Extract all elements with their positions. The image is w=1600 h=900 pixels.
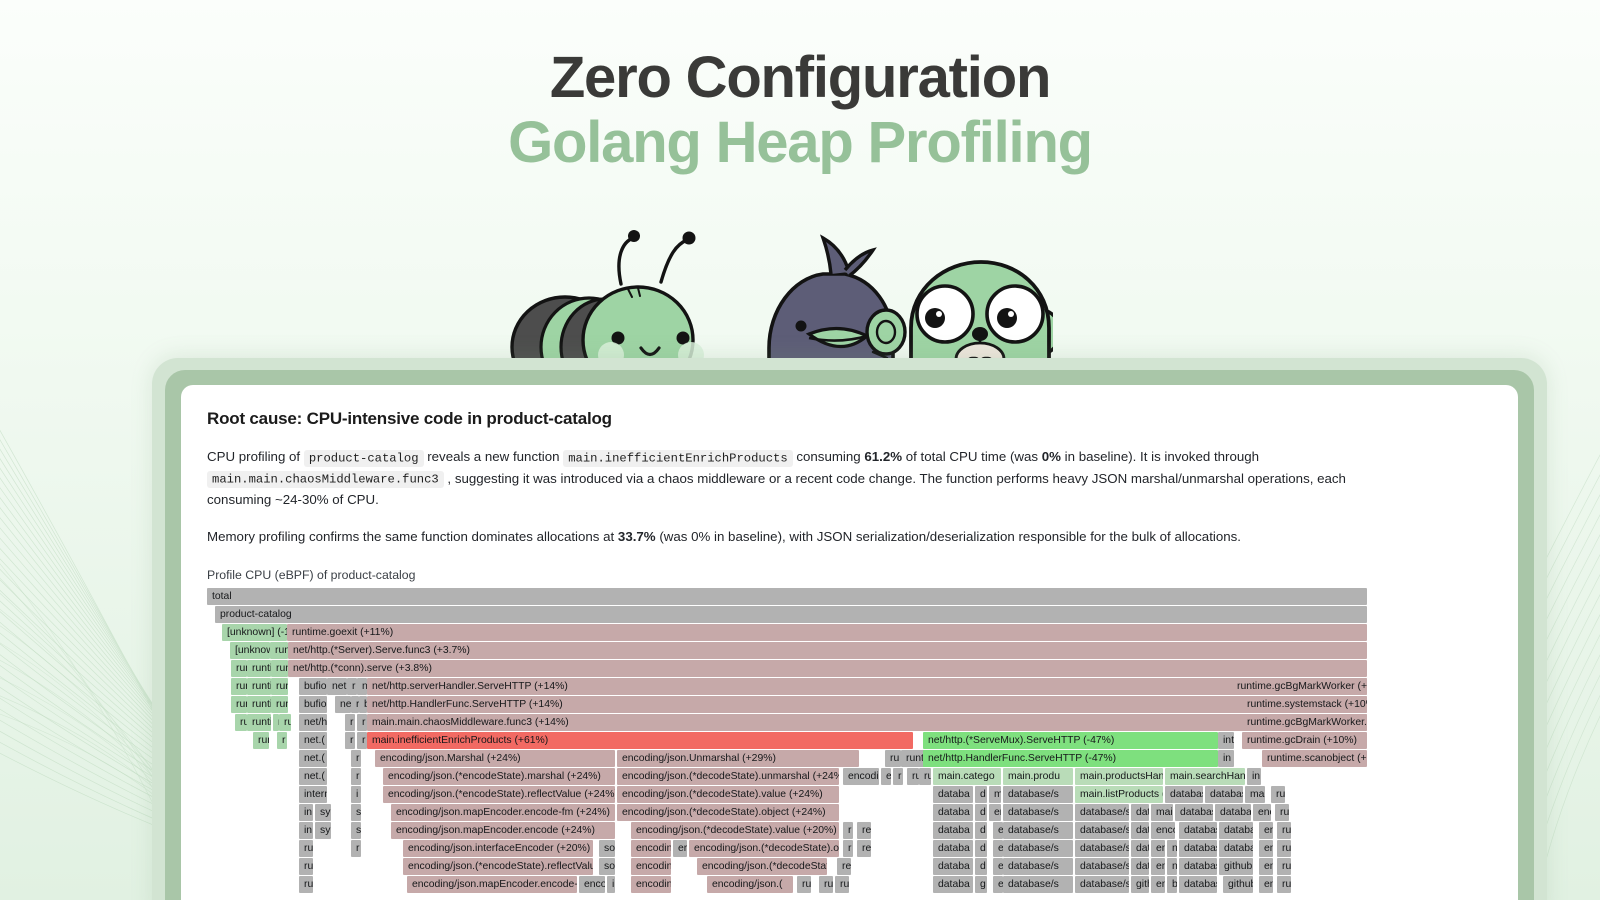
flamegraph-block[interactable]: re: [837, 858, 851, 875]
flamegraph-block[interactable]: r: [351, 768, 361, 785]
code-inefficient-enrich-products: main.inefficientEnrichProducts: [563, 450, 792, 467]
flamegraph-block[interactable]: en: [1151, 840, 1165, 857]
flamegraph-block[interactable]: runtime.ma: [231, 660, 247, 677]
flamegraph-block[interactable]: runti: [231, 678, 247, 695]
flamegraph-block[interactable]: database/s: [1003, 804, 1073, 821]
flamegraph-block[interactable]: ru: [1277, 840, 1291, 857]
flamegraph-block[interactable]: ru: [279, 714, 291, 731]
flamegraph-block[interactable]: r: [351, 840, 361, 857]
flamegraph-block[interactable]: net.(: [299, 750, 327, 767]
flamegraph-block[interactable]: in: [299, 804, 313, 821]
flamegraph-block[interactable]: n: [357, 678, 367, 695]
flamegraph-block[interactable]: r: [351, 750, 361, 767]
flamegraph-block[interactable]: bufio: [299, 678, 327, 695]
flamegraph-block[interactable]: ru: [299, 876, 313, 893]
flamegraph-block[interactable]: en: [1151, 876, 1165, 893]
flamegraph-row: rurencoding/json.interfaceEncoder (+20%)…: [207, 840, 1367, 858]
p2-text-2: (was 0% in baseline), with JSON serializ…: [656, 529, 1241, 544]
flamegraph-block[interactable]: ne: [335, 696, 351, 713]
flamegraph-block[interactable]: in: [299, 822, 313, 839]
flamegraph-block[interactable]: r: [345, 714, 355, 731]
flamegraph-block[interactable]: d: [975, 822, 987, 839]
flamegraph-block[interactable]: runtime.gc: [247, 696, 271, 713]
flamegraph-row: net.(rencoding/json.(*encodeState).marsh…: [207, 768, 1367, 786]
flamegraph-block[interactable]: dat: [1131, 822, 1149, 839]
flamegraph-block[interactable]: database/s: [1003, 858, 1073, 875]
flamegraph-block[interactable]: databa: [1219, 840, 1253, 857]
flamegraph-block[interactable]: [unknown] (-10%): [230, 642, 270, 659]
flamegraph-block[interactable]: databa: [933, 822, 973, 839]
code-chaos-middleware: main.main.chaosMiddleware.func3: [207, 471, 444, 488]
flamegraph-block[interactable]: r: [345, 732, 355, 749]
flamegraph-block[interactable]: so: [599, 840, 615, 857]
flamegraph-block[interactable]: net/http.(*conn).serve (+3.8%): [288, 660, 1367, 677]
flamegraph-block[interactable]: runtime.g: [247, 714, 271, 731]
flamegraph-row: ruencoding/json.mapEncoder.encode-encoie…: [207, 876, 1367, 894]
flamegraph-block[interactable]: int: [1218, 732, 1234, 749]
flamegraph-row: [unknown] (-10%)runtime.main (-6%)net/ht…: [207, 642, 1367, 660]
flamegraph-block[interactable]: github: [1223, 876, 1253, 893]
flamegraph-block[interactable]: so: [599, 858, 615, 875]
flamegraph-block[interactable]: sy: [315, 822, 331, 839]
flamegraph-block[interactable]: g: [975, 876, 987, 893]
flamegraph-block[interactable]: runtim: [271, 678, 288, 695]
flamegraph-block[interactable]: r: [843, 840, 853, 857]
flamegraph-row: net.(rencoding/json.Marshal (+24%)encodi…: [207, 750, 1367, 768]
flamegraph-block[interactable]: product-catalog: [215, 606, 1367, 623]
flamegraph-block[interactable]: net.(: [299, 768, 327, 785]
flamegraph-block[interactable]: i: [607, 876, 615, 893]
p2-text-1: Memory profiling confirms the same funct…: [207, 529, 618, 544]
flamegraph-block[interactable]: ru: [1277, 876, 1291, 893]
flamegraph-block[interactable]: encoding/json.(*encodeState).reflectValu…: [403, 858, 593, 875]
flamegraph-row: [unknown] (-10%)runtime.goexit (+11%): [207, 624, 1367, 642]
flamegraph-block[interactable]: m: [989, 786, 1001, 803]
flamegraph-block[interactable]: s: [351, 804, 361, 821]
p1-text-3: consuming: [793, 449, 865, 464]
flamegraph-block[interactable]: e: [993, 840, 1003, 857]
flamegraph-block[interactable]: net/h: [299, 714, 327, 731]
root-cause-paragraph-1: CPU profiling of product-catalog reveals…: [207, 447, 1382, 510]
flamegraph-block[interactable]: database/s: [1003, 786, 1073, 803]
flamegraph-block[interactable]: databa: [933, 804, 973, 821]
flamegraph-block[interactable]: database/s: [1003, 840, 1073, 857]
flamegraph-block[interactable]: encoding/json.(*encodeState).reflectValu…: [383, 786, 615, 803]
flamegraph-block[interactable]: er: [673, 840, 687, 857]
flamegraph-block[interactable]: databas: [1205, 786, 1243, 803]
flamegraph-block[interactable]: ru: [835, 876, 849, 893]
flamegraph-block[interactable]: r: [357, 714, 367, 731]
flamegraph-block[interactable]: encoding/json.(: [707, 876, 793, 893]
flamegraph-block[interactable]: encoding/json.(*decodeState).value (+24%…: [617, 786, 839, 803]
baseline-percent-value: 0%: [1042, 449, 1061, 464]
flamegraph-block[interactable]: runtime.scanobject (+9%): [1262, 750, 1367, 767]
flamegraph-block[interactable]: ru: [299, 840, 313, 857]
flamegraph-block[interactable]: runtime.gcDrain (+10%): [1242, 732, 1367, 749]
flamegraph-caption: Profile CPU (eBPF) of product-catalog: [207, 568, 1494, 582]
flamegraph-block[interactable]: b: [1167, 876, 1177, 893]
flamegraph-row: product-catalog: [207, 606, 1367, 624]
flamegraph-block[interactable]: r: [277, 732, 287, 749]
flamegraph-row: ruencoding/json.(*encodeState).reflectVa…: [207, 858, 1367, 876]
laptop-bezel: Root cause: CPU-intensive code in produc…: [165, 370, 1534, 900]
flamegraph-block[interactable]: encoding/json.mapEncoder.encode (+24%): [391, 822, 615, 839]
flamegraph-block[interactable]: runtime.main (-6%): [270, 642, 288, 659]
flamegraph-block[interactable]: runtim: [271, 696, 288, 713]
flamegraph-block[interactable]: databas: [1179, 858, 1217, 875]
flamegraph-block[interactable]: e: [993, 858, 1003, 875]
flamegraph-block[interactable]: databa: [933, 786, 973, 803]
flamegraph-block[interactable]: main.main.chaosMiddleware.func3 (+14%): [367, 714, 1367, 731]
flamegraph-block[interactable]: dat: [1131, 840, 1149, 857]
flamegraph-block[interactable]: d: [975, 858, 987, 875]
flamegraph-block[interactable]: encoding/json.(*decodeState).unmarshal (…: [617, 768, 839, 785]
flamegraph-block[interactable]: n: [1167, 858, 1177, 875]
flamegraph-block[interactable]: ru: [299, 858, 313, 875]
flamegraph-block[interactable]: re: [857, 840, 871, 857]
flamegraph-block[interactable]: databas: [1179, 840, 1217, 857]
flamegraph-block[interactable]: encoding/json.(*decodeState).value (+20%…: [631, 822, 839, 839]
flamegraph-block[interactable]: r: [843, 822, 853, 839]
page-title-line-1: Zero Configuration: [0, 46, 1600, 111]
flamegraph-row: runtiruntime.gcruntimbufionetrnnet/http.…: [207, 678, 1367, 696]
flamegraph-row: total: [207, 588, 1367, 606]
flamegraph-block[interactable]: databa: [933, 858, 973, 875]
flamegraph-block[interactable]: ru: [1271, 786, 1285, 803]
flamegraph-block[interactable]: ru: [819, 876, 833, 893]
flamegraph-block[interactable]: r: [351, 696, 359, 713]
flamegraph-block[interactable]: en: [1259, 858, 1273, 875]
flamegraph-block[interactable]: databa: [1219, 822, 1253, 839]
flamegraph-block[interactable]: main.inefficientEnrichProducts (+61%): [367, 732, 913, 749]
flamegraph-block[interactable]: database/s: [1003, 822, 1073, 839]
flamegraph-block[interactable]: runtime.gc: [247, 678, 271, 695]
flamegraph-block[interactable]: encoding/json.interfaceEncoder (+20%): [403, 840, 593, 857]
flamegraph-block[interactable]: database/s: [1075, 804, 1129, 821]
flamegraph-row: insysencoding/json.mapEncoder.encode-fm …: [207, 804, 1367, 822]
flamegraph[interactable]: totalproduct-catalog[unknown] (-10%)runt…: [207, 588, 1367, 894]
flamegraph-block[interactable]: re: [857, 822, 871, 839]
laptop-screen: Root cause: CPU-intensive code in produc…: [181, 385, 1518, 900]
flamegraph-block[interactable]: encodin: [843, 768, 879, 785]
flamegraph-block[interactable]: dat: [1131, 858, 1149, 875]
hero-heading-group: Zero Configuration Golang Heap Profiling: [0, 46, 1600, 176]
flamegraph-block[interactable]: s: [351, 822, 361, 839]
flamegraph-block[interactable]: total: [207, 588, 1367, 605]
flamegraph-block[interactable]: encoding/json.Marshal (+24%): [375, 750, 615, 767]
flamegraph-block[interactable]: runti: [231, 696, 247, 713]
flamegraph-block[interactable]: net/http.HandlerFunc.ServeHTTP (-47%): [923, 750, 1218, 767]
flamegraph-block[interactable]: mai: [1245, 786, 1265, 803]
flamegraph-row: runtime.maruntime.gcruntime.mnet/http.(*…: [207, 660, 1367, 678]
flamegraph-block[interactable]: runtime.systemstack (+10%): [1242, 696, 1367, 713]
flamegraph-block[interactable]: d: [975, 804, 987, 821]
page-title-line-2: Golang Heap Profiling: [0, 111, 1600, 176]
flamegraph-block[interactable]: ru: [797, 876, 811, 893]
flamegraph-block[interactable]: [unknown] (-10%): [222, 624, 287, 641]
flamegraph-block[interactable]: databas: [1175, 804, 1213, 821]
flamegraph-block[interactable]: enco: [1151, 822, 1175, 839]
flamegraph-block[interactable]: main.searchHandler (: [1165, 768, 1245, 785]
flamegraph-block[interactable]: in: [1247, 768, 1261, 785]
flamegraph-block[interactable]: databa: [1215, 804, 1251, 821]
flamegraph-block[interactable]: encoding/json.mapEncoder.encode-: [407, 876, 577, 893]
flamegraph-block[interactable]: r: [357, 732, 367, 749]
flamegraph-block[interactable]: main.listProducts (-15: [1075, 786, 1163, 803]
page-title: Root cause: CPU-intensive code in produc…: [207, 409, 1494, 429]
flamegraph-block[interactable]: ru: [1277, 858, 1291, 875]
flamegraph-block[interactable]: en: [1259, 822, 1273, 839]
flamegraph-block[interactable]: databas: [1165, 786, 1203, 803]
flamegraph-block[interactable]: runtime.gcBgMarkWorker.f: [1242, 714, 1367, 731]
flamegraph-block[interactable]: sy: [315, 804, 331, 821]
flamegraph-block[interactable]: ru: [1275, 804, 1289, 821]
flamegraph-row: runrnet.(rrmain.inefficientEnrichProduct…: [207, 732, 1367, 750]
p1-text-5: in baseline). It is invoked through: [1061, 449, 1259, 464]
flamegraph-block[interactable]: d: [975, 786, 987, 803]
flamegraph-block[interactable]: runtime.m: [271, 660, 288, 677]
flamegraph-block[interactable]: er: [989, 804, 1001, 821]
flamegraph-block[interactable]: encodin: [631, 840, 671, 857]
flamegraph-block[interactable]: net/http.serverHandler.ServeHTTP (+14%): [367, 678, 1367, 695]
laptop-frame: Root cause: CPU-intensive code in produc…: [152, 358, 1547, 900]
flamegraph-block[interactable]: bufio: [299, 696, 327, 713]
memory-percent-value: 33.7%: [618, 529, 656, 544]
flamegraph-block[interactable]: run: [253, 732, 269, 749]
flamegraph-block[interactable]: b: [359, 696, 367, 713]
flamegraph-block[interactable]: encoding/json.(*encodeState).marshal (+2…: [383, 768, 615, 785]
p1-text-1: CPU profiling of: [207, 449, 304, 464]
flamegraph-block[interactable]: ru: [235, 714, 247, 731]
flamegraph-block[interactable]: databas: [1179, 876, 1217, 893]
flamegraph-block[interactable]: encodin: [631, 876, 671, 893]
flamegraph-block[interactable]: en: [1151, 858, 1165, 875]
flamegraph-block[interactable]: runtime.gcBgMarkWorker (+9%): [1232, 678, 1367, 695]
flamegraph-block[interactable]: r: [893, 768, 903, 785]
flamegraph-block[interactable]: net/http.(*ServeMux).ServeHTTP (-47%): [923, 732, 1218, 749]
flamegraph-block[interactable]: database/s: [1075, 840, 1129, 857]
flamegraph-block[interactable]: database/s: [1075, 858, 1129, 875]
flamegraph-block[interactable]: database/s: [1003, 876, 1073, 893]
flamegraph-block[interactable]: encoding/json.mapEncoder.encode-fm (+24%…: [391, 804, 615, 821]
cpu-percent-value: 61.2%: [864, 449, 902, 464]
flamegraph-row: interniencoding/json.(*encodeState).refl…: [207, 786, 1367, 804]
flamegraph-block[interactable]: net/http.(*Server).Serve.func3 (+3.7%): [288, 642, 1367, 659]
flamegraph-block[interactable]: main.productsHandle: [1075, 768, 1163, 785]
flamegraph-block[interactable]: encoding/json.(*decodeState).o: [697, 858, 827, 875]
root-cause-paragraph-2: Memory profiling confirms the same funct…: [207, 527, 1382, 547]
flamegraph-block[interactable]: encoding/json.(*decodeState).o: [689, 840, 839, 857]
flamegraph-block[interactable]: ru: [885, 750, 901, 767]
p1-text-2: reveals a new function: [424, 449, 564, 464]
flamegraph-block[interactable]: e: [993, 876, 1003, 893]
flamegraph-block[interactable]: encoding/json.(*decodeState).object (+24…: [617, 804, 839, 821]
flamegraph-block[interactable]: main: [1151, 804, 1173, 821]
flamegraph-block[interactable]: databa: [933, 840, 973, 857]
flamegraph-block[interactable]: e: [993, 822, 1003, 839]
flamegraph-block[interactable]: databas: [1179, 822, 1217, 839]
flamegraph-block[interactable]: enc: [1253, 804, 1271, 821]
flamegraph-block[interactable]: en: [1259, 876, 1273, 893]
flamegraph-block[interactable]: en: [1259, 840, 1273, 857]
code-product-catalog: product-catalog: [304, 450, 424, 467]
flamegraph-block[interactable]: ru: [1277, 822, 1291, 839]
flamegraph-block[interactable]: main.produ: [1003, 768, 1073, 785]
flamegraph-block[interactable]: n: [1167, 840, 1177, 857]
flamegraph-block[interactable]: database/s: [1075, 822, 1129, 839]
flamegraph-block[interactable]: ru: [907, 768, 919, 785]
flamegraph-block[interactable]: github.: [1219, 858, 1253, 875]
flamegraph-block[interactable]: main.catego: [933, 768, 1001, 785]
flamegraph-block[interactable]: enco: [579, 876, 605, 893]
flamegraph-block[interactable]: gith: [1131, 876, 1149, 893]
flamegraph-block[interactable]: database/s: [1075, 876, 1129, 893]
flamegraph-block[interactable]: i: [351, 786, 361, 803]
flamegraph-block[interactable]: encoding/json.Unmarshal (+29%): [617, 750, 859, 767]
flamegraph-row: insysencoding/json.mapEncoder.encode (+2…: [207, 822, 1367, 840]
flamegraph-block[interactable]: runtime.goexit (+11%): [287, 624, 1367, 641]
flamegraph-block[interactable]: d: [975, 840, 987, 857]
flamegraph-block[interactable]: encodin: [631, 858, 671, 875]
flamegraph-block[interactable]: net: [327, 678, 347, 695]
flamegraph-block[interactable]: ru: [919, 768, 931, 785]
p1-text-4: of total CPU time (was: [902, 449, 1042, 464]
flamegraph-block[interactable]: databa: [933, 876, 973, 893]
flamegraph-block[interactable]: runtime.gc: [247, 660, 271, 677]
flamegraph-block[interactable]: dat: [1131, 804, 1149, 821]
flamegraph-block[interactable]: intern: [299, 786, 327, 803]
flamegraph-block[interactable]: in: [1218, 750, 1234, 767]
flamegraph-row: ruruntime.grrunet/hrrmain.main.chaosMidd…: [207, 714, 1367, 732]
flamegraph-row: runtiruntime.gcruntimbufionerbnet/http.H…: [207, 696, 1367, 714]
flamegraph-block[interactable]: net/http.HandlerFunc.ServeHTTP (+14%): [367, 696, 1367, 713]
flamegraph-block[interactable]: net.(: [299, 732, 327, 749]
flamegraph-block[interactable]: e: [881, 768, 891, 785]
flamegraph-block[interactable]: r: [347, 678, 357, 695]
